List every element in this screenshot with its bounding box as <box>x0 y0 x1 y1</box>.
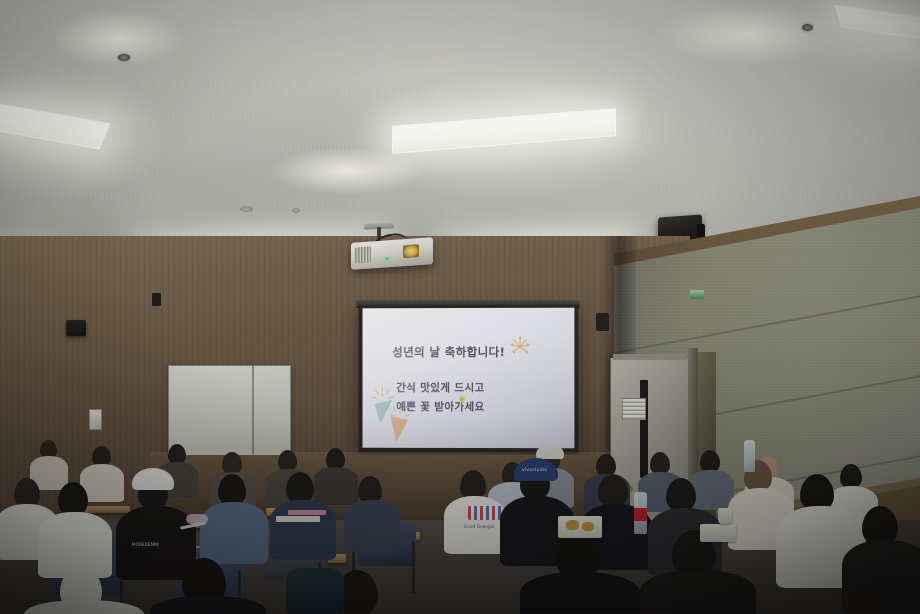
notebook-on-desk[interactable] <box>288 510 326 515</box>
person-body <box>520 572 640 614</box>
person-body <box>344 500 400 552</box>
ceiling-light-patch <box>52 10 182 66</box>
tshirt-graphic <box>468 506 502 520</box>
smoke-detector <box>240 206 253 212</box>
water-bottle[interactable] <box>744 440 755 472</box>
wall-speaker <box>596 313 609 331</box>
person-body <box>842 540 920 614</box>
cap-brand-text: vivastudio <box>522 468 547 473</box>
person-body <box>270 500 336 560</box>
person-body <box>200 502 268 564</box>
ceiling-speaker <box>152 293 161 306</box>
person-body <box>150 596 266 614</box>
snack-box[interactable] <box>558 516 602 538</box>
snack-food <box>582 522 594 531</box>
audience-area: MOREDENIM Good Georgia vivastudio <box>0 420 920 614</box>
paper-cup[interactable] <box>718 508 732 524</box>
person-body <box>24 600 144 614</box>
snack-food <box>566 520 579 530</box>
person-body <box>314 467 358 505</box>
backpack-on-floor[interactable] <box>286 568 344 614</box>
notebook-on-desk[interactable] <box>276 516 320 522</box>
door-sign <box>622 398 646 420</box>
tshirt-print-text: Good Georgia <box>464 524 494 529</box>
projector-lens-icon <box>403 244 419 258</box>
recessed-downlight <box>802 24 813 31</box>
confetti-burst-icon <box>508 336 532 358</box>
lecture-hall-photo: 성년의 날 축하합니다! 간식 맛있게 드시고 예쁜 꽃 받아가세요 <box>0 0 920 614</box>
ceiling-projector <box>351 237 433 270</box>
smoke-detector <box>292 208 300 213</box>
projector-vent <box>355 246 371 263</box>
person-head <box>598 474 628 508</box>
person-cap <box>536 444 564 459</box>
slide-title-text: 성년의 날 축하합니다! <box>392 344 505 360</box>
flower-sprig-icon <box>454 392 470 408</box>
chair-leg <box>412 542 415 594</box>
exit-indicator-icon <box>690 290 704 299</box>
wall-speaker <box>66 320 86 336</box>
person-head <box>58 482 88 516</box>
person-head <box>666 478 696 512</box>
ceiling-light-patch <box>272 148 422 194</box>
person-body <box>640 570 756 614</box>
tablet-arm-desk <box>84 506 130 513</box>
projector-status-led-icon <box>385 257 389 260</box>
ceiling-light-patch <box>660 4 840 64</box>
recessed-downlight <box>118 54 130 61</box>
tshirt-print-text: MOREDENIM <box>132 542 159 547</box>
cola-bottle-label <box>634 508 647 521</box>
snack-box[interactable] <box>700 524 736 542</box>
